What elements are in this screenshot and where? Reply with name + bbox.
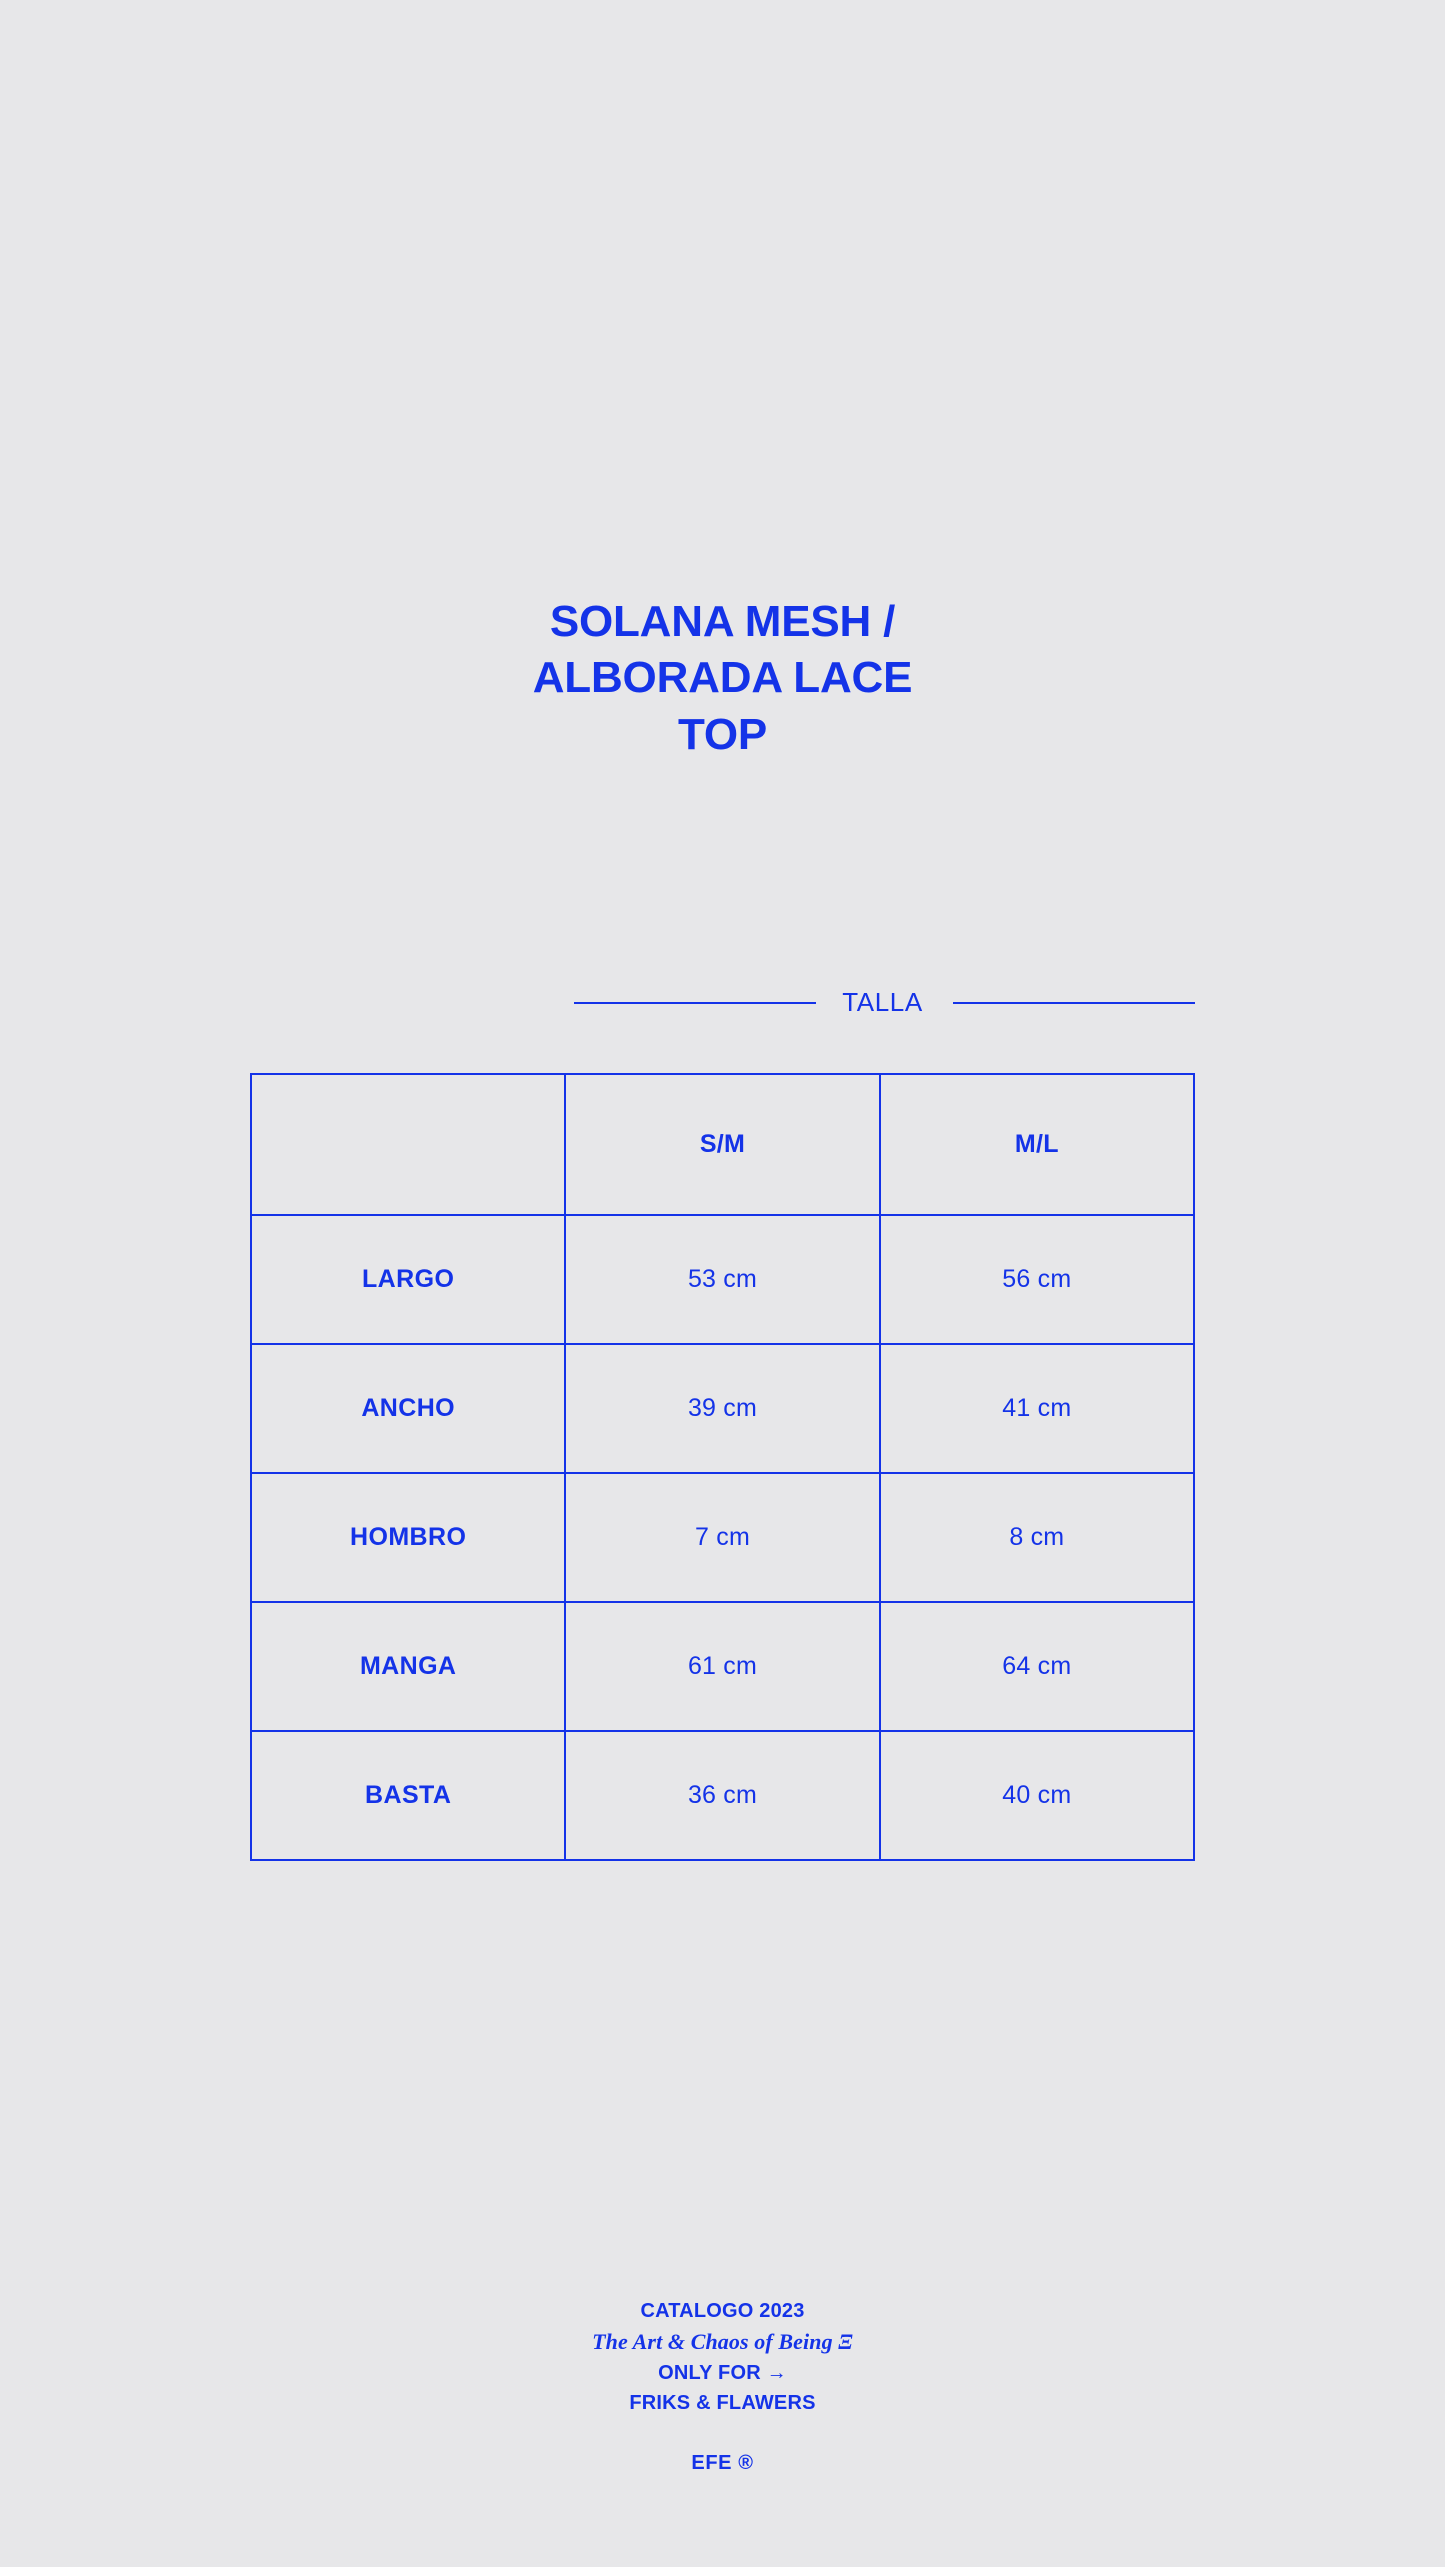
row-label-hombro: HOMBRO [251,1473,565,1602]
footer-catalog-year: CATALOGO 2023 [0,2296,1445,2326]
divider-rule-right [953,1002,1195,1004]
cell-hombro-sm: 7 cm [565,1473,879,1602]
cell-manga-ml: 64 cm [880,1602,1194,1731]
column-header-sm: S/M [565,1074,879,1215]
table-body: LARGO 53 cm 56 cm ANCHO 39 cm 41 cm HOMB… [251,1215,1194,1860]
row-label-ancho: ANCHO [251,1344,565,1473]
footer-only-for: ONLY FOR → [0,2358,1445,2388]
talla-label: TALLA [842,989,923,1015]
cell-ancho-sm: 39 cm [565,1344,879,1473]
size-chart-page: SOLANA MESH / ALBORADA LACE TOP TALLA S/… [0,0,1445,2567]
table-header: S/M M/L [251,1074,1194,1215]
table-row: BASTA 36 cm 40 cm [251,1731,1194,1860]
row-label-basta: BASTA [251,1731,565,1860]
table-row: LARGO 53 cm 56 cm [251,1215,1194,1344]
cell-largo-sm: 53 cm [565,1215,879,1344]
footer-audience: FRIKS & FLAWERS [0,2388,1445,2418]
table-row: ANCHO 39 cm 41 cm [251,1344,1194,1473]
table-row: HOMBRO 7 cm 8 cm [251,1473,1194,1602]
divider-rule-left [574,1002,816,1004]
cell-basta-sm: 36 cm [565,1731,879,1860]
column-header-ml: M/L [880,1074,1194,1215]
footer-brand: EFE ® [0,2452,1445,2475]
row-label-largo: LARGO [251,1215,565,1344]
page-title: SOLANA MESH / ALBORADA LACE TOP [443,594,1003,763]
talla-divider: TALLA [250,990,1195,1016]
page-title-block: SOLANA MESH / ALBORADA LACE TOP [0,594,1445,763]
table-row: MANGA 61 cm 64 cm [251,1602,1194,1731]
footer-tagline: The Art & Chaos of Being Ξ [0,2326,1445,2357]
cell-largo-ml: 56 cm [880,1215,1194,1344]
cell-ancho-ml: 41 cm [880,1344,1194,1473]
column-header-measurement [251,1074,565,1215]
cell-manga-sm: 61 cm [565,1602,879,1731]
table-header-row: S/M M/L [251,1074,1194,1215]
footer-block: CATALOGO 2023 The Art & Chaos of Being Ξ… [0,2296,1445,2475]
size-chart-table: S/M M/L LARGO 53 cm 56 cm ANCHO 39 cm 41… [250,1073,1195,1861]
cell-hombro-ml: 8 cm [880,1473,1194,1602]
cell-basta-ml: 40 cm [880,1731,1194,1860]
row-label-manga: MANGA [251,1602,565,1731]
